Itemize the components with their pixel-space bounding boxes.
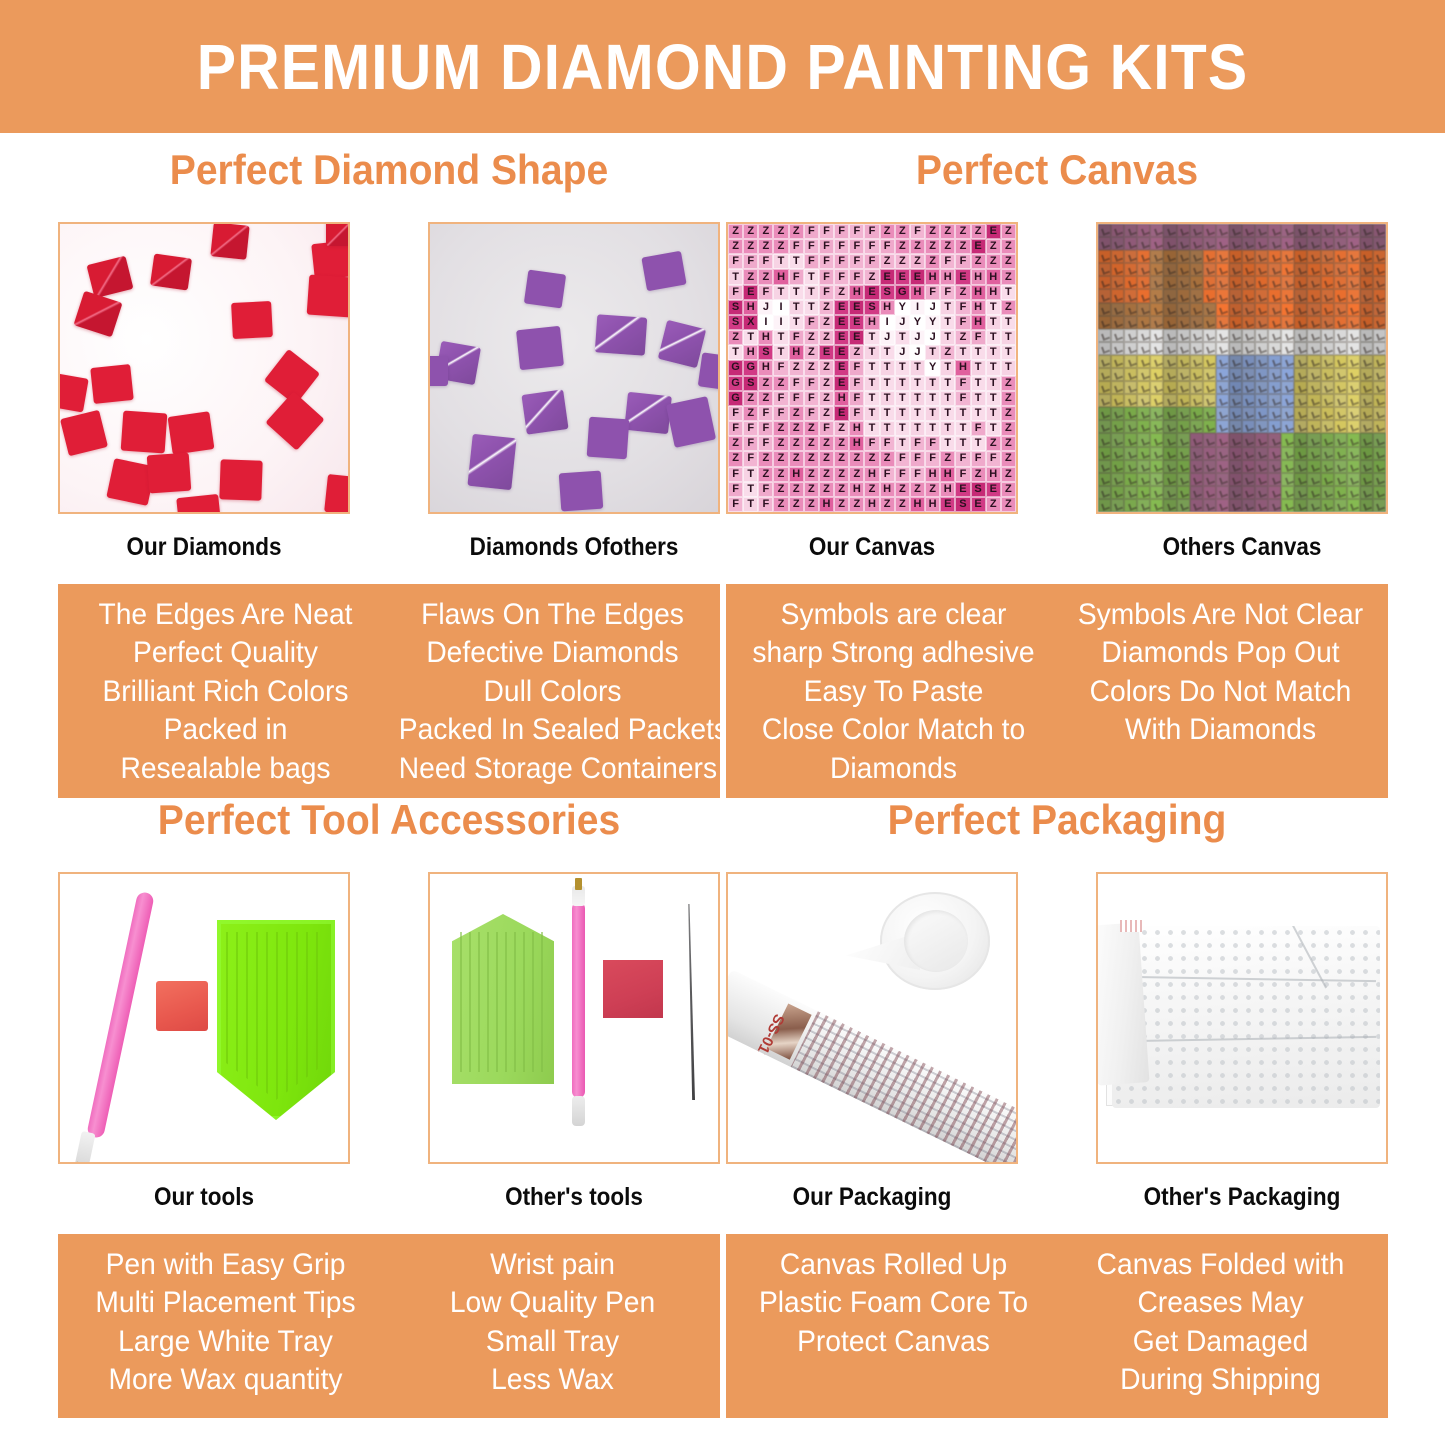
canvas-blurry-cell (1163, 329, 1176, 342)
canvas-blurry-cell (1216, 460, 1229, 473)
canvas-blurry-cell (1111, 433, 1124, 446)
canvas-symbol-cell: T (955, 345, 970, 360)
canvas-blurry-cell (1242, 276, 1255, 289)
canvas-blurry-cell (1360, 329, 1373, 342)
canvas-blurry-cell (1307, 276, 1320, 289)
canvas-symbol-cell: F (728, 421, 743, 436)
canvas-symbol-cell: T (728, 269, 743, 284)
canvas-symbol-cell: F (955, 451, 970, 466)
canvas-blurry-cell (1281, 224, 1294, 237)
canvas-blurry-cell (1124, 355, 1137, 368)
canvas-blurry-cell (1137, 329, 1150, 342)
canvas-symbol-cell: F (773, 391, 788, 406)
section-diamond-shape: Perfect Diamond Shape (58, 148, 720, 768)
canvas-symbol-cell: Z (849, 451, 864, 466)
canvas-blurry-cell (1124, 224, 1137, 237)
canvas-blurry-cell (1321, 303, 1334, 316)
canvas-blurry-cell (1177, 237, 1190, 250)
canvas-blurry-cell (1268, 486, 1281, 499)
diamond-piece (168, 411, 215, 454)
canvas-symbol-cell: T (864, 406, 879, 421)
canvas-blurry-cell (1334, 407, 1347, 420)
canvas-symbol-cell: Z (773, 239, 788, 254)
cap-inner-ring (904, 910, 968, 972)
canvas-blurry-cell (1268, 329, 1281, 342)
canvas-symbol-cell: Z (758, 391, 773, 406)
canvas-symbol-cell: Z (773, 482, 788, 497)
canvas-blurry-cell (1098, 316, 1111, 329)
canvas-blurry-cell (1255, 276, 1268, 289)
canvas-blurry-cell (1177, 368, 1190, 381)
canvas-symbol-cell: Z (743, 239, 758, 254)
canvas-symbol-cell: F (743, 451, 758, 466)
canvas-blurry-cell (1373, 342, 1386, 355)
canvas-blurry-cell (1216, 276, 1229, 289)
canvas-symbol-cell: Z (1001, 467, 1016, 482)
canvas-symbol-cell: F (971, 421, 986, 436)
canvas-symbol-cell: T (880, 360, 895, 375)
canvas-blurry-cell (1124, 237, 1137, 250)
canvas-symbol-cell: F (971, 451, 986, 466)
canvas-blurry-cell (1124, 368, 1137, 381)
canvas-blurry-cell (1163, 303, 1176, 316)
canvas-blurry-cell (1373, 447, 1386, 460)
canvas-blurry-cell (1190, 237, 1203, 250)
bullet-line: Diamonds (740, 750, 1047, 788)
canvas-blurry-cell (1334, 420, 1347, 433)
canvas-blurry-cell (1373, 303, 1386, 316)
canvas-blurry-cell (1334, 460, 1347, 473)
canvas-symbol-cell: T (925, 406, 940, 421)
canvas-blurry-cell (1281, 407, 1294, 420)
canvas-symbol-cell: H (940, 482, 955, 497)
canvas-symbol-cell: T (986, 391, 1001, 406)
canvas-symbol-cell: Z (834, 285, 849, 300)
canvas-blurry-cell (1307, 420, 1320, 433)
canvas-blurry-cell (1137, 368, 1150, 381)
canvas-symbol-cell: T (895, 421, 910, 436)
canvas-blurry-cell (1177, 342, 1190, 355)
canvas-blurry-cell (1177, 276, 1190, 289)
canvas-blurry-cell (1137, 250, 1150, 263)
bullet-line: During Shipping (1067, 1361, 1374, 1399)
canvas-blurry-cell (1268, 381, 1281, 394)
canvas-blurry-cell (1150, 447, 1163, 460)
canvas-symbol-cell: F (955, 467, 970, 482)
canvas-blurry-cell (1150, 329, 1163, 342)
canvas-symbol-cell: Z (789, 421, 804, 436)
canvas-blurry-cell (1229, 473, 1242, 486)
canvas-blurry-cell (1098, 342, 1111, 355)
canvas-blurry-cell (1360, 316, 1373, 329)
canvas-symbol-cell: Z (789, 482, 804, 497)
canvas-blurry-cell (1307, 224, 1320, 237)
canvas-blurry-cell (1124, 486, 1137, 499)
pen-metal-tip (575, 878, 582, 890)
canvas-blurry-cell (1294, 473, 1307, 486)
panel-our-diamonds: Our Diamonds (58, 222, 350, 562)
diamond-piece (324, 474, 350, 514)
canvas-blurry-cell (1321, 276, 1334, 289)
canvas-symbol-cell: Z (804, 436, 819, 451)
canvas-symbol-cell: H (743, 300, 758, 315)
canvas-symbol-cell: F (864, 239, 879, 254)
bullets-theirs: Symbols Are Not ClearDiamonds Pop OutCol… (1067, 596, 1374, 788)
bullet-line: Packed in (72, 711, 379, 749)
our-packaging-photo: SS-011 (726, 872, 1018, 1164)
canvas-symbol-cell: T (910, 360, 925, 375)
canvas-blurry-cell (1111, 316, 1124, 329)
canvas-symbol-cell: E (849, 330, 864, 345)
canvas-blurry-cell (1281, 394, 1294, 407)
canvas-symbol-cell: H (864, 497, 879, 512)
canvas-symbol-cell: Z (880, 451, 895, 466)
canvas-symbol-cell: F (758, 406, 773, 421)
canvas-blurry-cell (1124, 250, 1137, 263)
canvas-symbol-cell: Z (940, 451, 955, 466)
canvas-symbol-cell: F (880, 436, 895, 451)
canvas-symbol-cell: H (880, 300, 895, 315)
canvas-symbol-cell: Z (971, 467, 986, 482)
canvas-blurry-cell (1137, 486, 1150, 499)
canvas-symbol-cell: H (849, 285, 864, 300)
canvas-blurry-cell (1203, 342, 1216, 355)
canvas-blurry-cell (1294, 394, 1307, 407)
canvas-blurry-cell (1163, 381, 1176, 394)
canvas-blurry-cell (1190, 342, 1203, 355)
canvas-blurry-cell (1111, 486, 1124, 499)
canvas-blurry-cell (1216, 303, 1229, 316)
header-banner: PREMIUM DIAMOND PAINTING KITS (0, 0, 1445, 133)
canvas-blurry-cell (1360, 342, 1373, 355)
canvas-symbol-cell: Z (758, 467, 773, 482)
canvas-symbol-cell: E (834, 360, 849, 375)
canvas-blurry-cell (1229, 224, 1242, 237)
canvas-blurry-cell (1294, 460, 1307, 473)
bullet-line: sharp Strong adhesive (740, 634, 1047, 672)
canvas-blurry-cell (1373, 250, 1386, 263)
canvas-symbol-cell: Z (1001, 406, 1016, 421)
canvas-symbol-cell: I (773, 315, 788, 330)
canvas-symbol-cell: H (834, 391, 849, 406)
canvas-symbol-cell: F (864, 224, 879, 239)
canvas-symbol-cell: F (804, 239, 819, 254)
canvas-blurry-cell (1137, 433, 1150, 446)
infographic-page: PREMIUM DIAMOND PAINTING KITS Perfect Di… (0, 0, 1445, 1445)
canvas-symbol-cell: H (849, 421, 864, 436)
canvas-blurry-cell (1137, 407, 1150, 420)
canvas-blurry-cell (1281, 420, 1294, 433)
canvas-blurry-cell (1334, 368, 1347, 381)
canvas-blurry-cell (1255, 250, 1268, 263)
canvas-symbol-cell: Z (849, 497, 864, 512)
canvas-symbol-cell: T (940, 300, 955, 315)
canvas-symbol-cell: T (895, 436, 910, 451)
canvas-blurry-cell (1242, 289, 1255, 302)
canvas-symbol-cell: Z (910, 482, 925, 497)
canvas-symbol-cell: H (925, 497, 940, 512)
canvas-blurry-cell (1294, 276, 1307, 289)
canvas-blurry-cell (1124, 263, 1137, 276)
canvas-blurry-cell (1307, 407, 1320, 420)
canvas-symbol-cell: Z (773, 451, 788, 466)
canvas-symbol-cell: Z (758, 376, 773, 391)
canvas-symbol-cell: H (910, 285, 925, 300)
canvas-symbol-cell: E (895, 269, 910, 284)
canvas-blurry-cell (1347, 250, 1360, 263)
others-packaging-photo (1096, 872, 1388, 1164)
canvas-symbol-cell: F (789, 269, 804, 284)
canvas-blurry-cell (1373, 329, 1386, 342)
canvas-symbol-cell: T (986, 376, 1001, 391)
canvas-blurry-cell (1163, 420, 1176, 433)
canvas-blurry-cell (1268, 276, 1281, 289)
canvas-symbol-cell: F (834, 239, 849, 254)
bullet-line: Multi Placement Tips (72, 1284, 379, 1322)
canvas-symbol-cell: T (986, 315, 1001, 330)
canvas-blurry-cell (1111, 407, 1124, 420)
bullet-line: Resealable bags (72, 750, 379, 788)
canvas-symbol-cell: J (758, 300, 773, 315)
caption-others-tools: Other's tools (443, 1183, 706, 1212)
canvas-blurry-cell (1190, 460, 1203, 473)
canvas-symbol-cell: S (728, 300, 743, 315)
canvas-symbol-cell: Z (804, 451, 819, 466)
canvas-blurry-cell (1307, 303, 1320, 316)
canvas-blurry-cell (1111, 329, 1124, 342)
canvas-symbol-cell: Z (1001, 239, 1016, 254)
canvas-blurry-cell (1242, 433, 1255, 446)
canvas-blurry-cell (1137, 420, 1150, 433)
panel-our-packaging: SS-011 Our Packaging (726, 872, 1018, 1212)
canvas-symbol-cell: F (910, 451, 925, 466)
canvas-blurry-cell (1098, 355, 1111, 368)
canvas-blurry-cell (1334, 499, 1347, 512)
canvas-blurry-cell (1163, 460, 1176, 473)
canvas-blurry-cell (1294, 499, 1307, 512)
canvas-symbol-cell: Z (955, 224, 970, 239)
canvas-blurry-cell (1281, 368, 1294, 381)
canvas-blurry-cell (1321, 473, 1334, 486)
canvas-blurry-cell (1242, 368, 1255, 381)
canvas-blurry-cell (1216, 433, 1229, 446)
canvas-symbol-cell: E (986, 482, 1001, 497)
section-title-packaging: Perfect Packaging (749, 798, 1365, 858)
canvas-symbol-cell: Z (986, 254, 1001, 269)
red-wax-square (603, 960, 663, 1018)
panel-our-tools: Our tools (58, 872, 350, 1212)
canvas-blurry-cell (1124, 316, 1137, 329)
canvas-symbol-cell: Z (819, 315, 834, 330)
canvas-symbol-cell: F (728, 285, 743, 300)
canvas-blurry-cell (1137, 263, 1150, 276)
canvas-symbol-cell: F (880, 239, 895, 254)
canvas-blurry-cell (1242, 316, 1255, 329)
canvas-blurry-cell (1373, 289, 1386, 302)
canvas-blurry-cell (1216, 237, 1229, 250)
canvas-symbol-cell: Z (804, 421, 819, 436)
canvas-symbol-cell: Z (864, 482, 879, 497)
canvas-blurry-cell (1111, 473, 1124, 486)
canvas-symbol-cell: E (849, 300, 864, 315)
canvas-blurry-cell (1177, 486, 1190, 499)
canvas-symbol-cell: Z (895, 224, 910, 239)
canvas-symbol-cell: Z (955, 330, 970, 345)
canvas-blurry-cell (1150, 289, 1163, 302)
canvas-blurry-cell (1098, 289, 1111, 302)
canvas-blurry-cell (1347, 224, 1360, 237)
canvas-blurry-cell (1307, 460, 1320, 473)
canvas-blurry-cell (1268, 250, 1281, 263)
bullet-line: Pen with Easy Grip (72, 1246, 379, 1284)
canvas-symbol-cell: F (849, 269, 864, 284)
canvas-blurry-cell (1111, 263, 1124, 276)
canvas-blurry-cell (1190, 355, 1203, 368)
canvas-blurry-cell (1360, 447, 1373, 460)
canvas-blurry-cell (1137, 316, 1150, 329)
canvas-blurry-cell (1229, 381, 1242, 394)
canvas-blurry-cell (1347, 447, 1360, 460)
canvas-blurry-cell (1150, 342, 1163, 355)
canvas-blurry-cell (1307, 263, 1320, 276)
canvas-symbol-cell: Z (1001, 482, 1016, 497)
canvas-symbol-cell: T (743, 467, 758, 482)
canvas-symbol-cell: Z (758, 451, 773, 466)
diamond-piece (516, 326, 564, 370)
canvas-blurry-cell (1321, 460, 1334, 473)
canvas-symbol-cell: H (758, 330, 773, 345)
panel-pair-canvas: ZZZZZFFFFFZZFZZZZEZZZZZFFFFFFFZZZZZEZZFF… (726, 222, 1388, 562)
canvas-blurry-cell (1203, 316, 1216, 329)
canvas-blurry-cell (1334, 381, 1347, 394)
canvas-symbol-cell: T (910, 421, 925, 436)
canvas-symbol-cell: F (773, 406, 788, 421)
canvas-blurry-cell (1347, 263, 1360, 276)
canvas-symbol-cell: H (971, 315, 986, 330)
canvas-blurry-cell (1190, 263, 1203, 276)
canvas-blurry-cell (1098, 303, 1111, 316)
diamond-piece (666, 396, 716, 448)
canvas-symbol-cell: J (895, 345, 910, 360)
canvas-symbol-cell: Y (925, 360, 940, 375)
canvas-blurry-cell (1307, 329, 1320, 342)
canvas-blurry-cell (1216, 263, 1229, 276)
canvas-symbol-cell: Z (758, 269, 773, 284)
canvas-blurry-cell (1216, 289, 1229, 302)
canvas-blurry-cell (1150, 433, 1163, 446)
canvas-symbol-cell: Z (758, 239, 773, 254)
canvas-blurry-cell (1203, 381, 1216, 394)
canvas-blurry-cell (1203, 263, 1216, 276)
canvas-blurry-cell (1242, 263, 1255, 276)
canvas-symbol-cell: Z (910, 254, 925, 269)
canvas-blurry-cell (1203, 433, 1216, 446)
canvas-blurry-cell (1203, 473, 1216, 486)
bullets-ours: The Edges Are NeatPerfect QualityBrillia… (72, 596, 379, 788)
canvas-symbol-cell: Z (895, 482, 910, 497)
diamond-piece (624, 392, 672, 434)
canvas-blurry-cell (1321, 394, 1334, 407)
canvas-blurry-cell (1294, 289, 1307, 302)
canvas-blurry-cell (1124, 420, 1137, 433)
canvas-blurry-cell (1163, 316, 1176, 329)
canvas-blurry-cell (1111, 342, 1124, 355)
canvas-blurry-cell (1137, 355, 1150, 368)
canvas-blurry-cell (1190, 420, 1203, 433)
canvas-symbol-cell: F (804, 254, 819, 269)
canvas-symbol-cell: E (819, 345, 834, 360)
diamond-piece (524, 270, 566, 309)
bullet-line: Symbols Are Not Clear (1067, 596, 1374, 634)
our-tools-photo (58, 872, 350, 1164)
canvas-blurry-cell (1281, 263, 1294, 276)
canvas-blurry-cell (1281, 460, 1294, 473)
canvas-blurry-cell (1177, 329, 1190, 342)
canvas-blurry-cell (1307, 433, 1320, 446)
bullets-theirs: Wrist painLow Quality PenSmall TrayLess … (399, 1246, 706, 1408)
canvas-symbol-cell: T (789, 254, 804, 269)
canvas-symbol-cell: Z (743, 224, 758, 239)
canvas-symbol-cell: Z (804, 467, 819, 482)
bullet-line: Symbols are clear (740, 596, 1047, 634)
canvas-symbol-cell: Z (834, 436, 849, 451)
canvas-blurry-cell (1373, 460, 1386, 473)
canvas-blurry-cell (1150, 407, 1163, 420)
canvas-blurry-cell (1307, 381, 1320, 394)
canvas-symbol-cell: Z (819, 467, 834, 482)
canvas-symbol-cell: Z (743, 406, 758, 421)
canvas-symbol-cell: T (971, 376, 986, 391)
canvas-symbol-cell: E (834, 330, 849, 345)
canvas-blurry-cell (1281, 303, 1294, 316)
canvas-blurry-cell (1373, 394, 1386, 407)
canvas-symbol-cell: F (971, 330, 986, 345)
canvas-symbol-cell: Z (789, 497, 804, 512)
canvas-blurry-cell (1321, 237, 1334, 250)
canvas-blurry-cell (1177, 303, 1190, 316)
section-packaging: Perfect Packaging SS-011 Our Packaging (726, 798, 1388, 1418)
canvas-blurry-cell (1347, 420, 1360, 433)
canvas-symbol-cell: F (758, 482, 773, 497)
canvas-blurry-cell (1124, 394, 1137, 407)
canvas-symbol-cell: F (849, 254, 864, 269)
canvas-blurry-cell (1124, 303, 1137, 316)
canvas-blurry-cell (1137, 447, 1150, 460)
pink-drill-pen (86, 891, 155, 1139)
canvas-blurry-cell (1150, 316, 1163, 329)
canvas-blurry-cell (1190, 316, 1203, 329)
canvas-blurry-cell (1163, 368, 1176, 381)
canvas-blurry-cell (1150, 381, 1163, 394)
canvas-symbol-cell: F (758, 285, 773, 300)
canvas-symbol-cell: Z (880, 497, 895, 512)
canvas-blurry-cell (1360, 407, 1373, 420)
canvas-blurry-cell (1111, 289, 1124, 302)
bullet-line: Colors Do Not Match (1067, 673, 1374, 711)
canvas-blurry-cell (1190, 368, 1203, 381)
canvas-symbol-cell: Z (743, 391, 758, 406)
canvas-symbol-cell: T (940, 391, 955, 406)
bullets-diamond-shape: The Edges Are NeatPerfect QualityBrillia… (58, 584, 720, 798)
canvas-blurry-cell (1268, 342, 1281, 355)
canvas-symbol-cell: G (743, 360, 758, 375)
canvas-symbol-cell: F (955, 315, 970, 330)
canvas-symbol-cell: Z (819, 360, 834, 375)
canvas-blurry-cell (1111, 460, 1124, 473)
bullet-line: Small Tray (399, 1323, 706, 1361)
canvas-symbol-cell: T (864, 360, 879, 375)
canvas-symbol-cell: F (895, 451, 910, 466)
